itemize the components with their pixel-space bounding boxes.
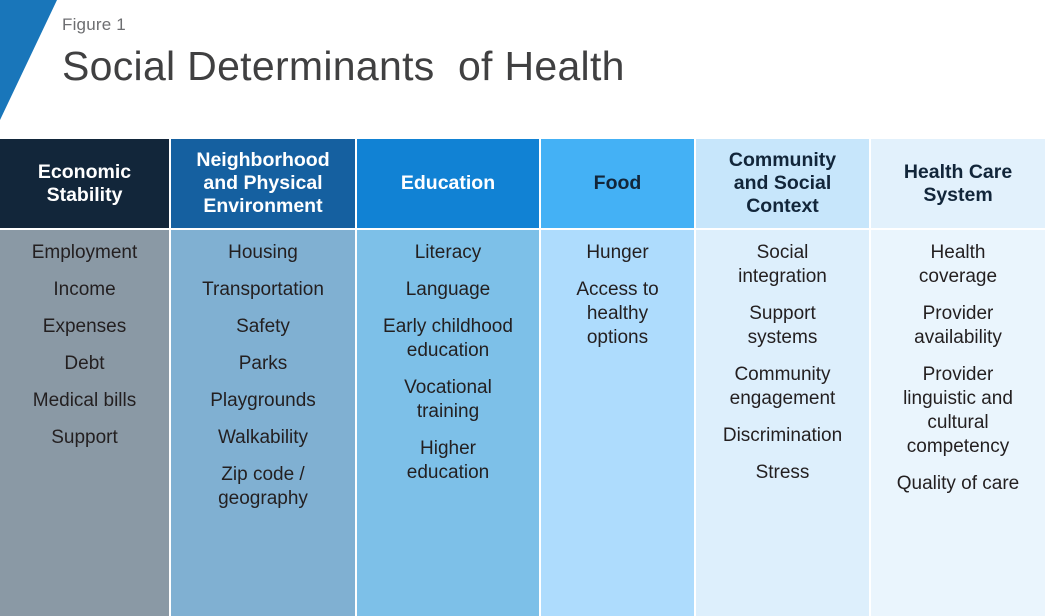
list-item: Parks	[178, 352, 348, 376]
list-item: Debt	[7, 352, 162, 376]
table-column-health-care-system: Health Care System Health coverage Provi…	[871, 139, 1045, 616]
list-item: Vocational training	[364, 376, 532, 424]
list-item: Housing	[178, 241, 348, 265]
column-header-neighborhood-physical-environment: Neighborhood and Physical Environment	[171, 139, 355, 230]
list-item: Stress	[703, 461, 862, 485]
list-item: Health coverage	[878, 241, 1038, 289]
table-column-education: Education Literacy Language Early childh…	[357, 139, 541, 616]
column-body-community-social-context: Social integration Support systems Commu…	[696, 230, 869, 616]
list-item: Literacy	[364, 241, 532, 265]
list-item: Expenses	[7, 315, 162, 339]
column-header-community-social-context: Community and Social Context	[696, 139, 869, 230]
table-column-community-social-context: Community and Social Context Social inte…	[696, 139, 871, 616]
list-item: Zip code / geography	[178, 463, 348, 511]
list-item: Higher education	[364, 437, 532, 485]
list-item: Playgrounds	[178, 389, 348, 413]
title-block: Figure 1 Social Determinants of Health	[62, 14, 962, 92]
list-item: Community engagement	[703, 363, 862, 411]
table-column-neighborhood-physical-environment: Neighborhood and Physical Environment Ho…	[171, 139, 357, 616]
column-header-economic-stability: Economic Stability	[0, 139, 169, 230]
figure-label: Figure 1	[62, 14, 962, 36]
page-title: Social Determinants of Health	[62, 40, 962, 92]
determinants-table: Economic Stability Employment Income Exp…	[0, 139, 1045, 616]
column-body-neighborhood-physical-environment: Housing Transportation Safety Parks Play…	[171, 230, 355, 616]
list-item: Social integration	[703, 241, 862, 289]
list-item: Safety	[178, 315, 348, 339]
table-column-economic-stability: Economic Stability Employment Income Exp…	[0, 139, 171, 616]
list-item: Early childhood education	[364, 315, 532, 363]
list-item: Quality of care	[878, 472, 1038, 496]
column-body-health-care-system: Health coverage Provider availability Pr…	[871, 230, 1045, 616]
list-item: Transportation	[178, 278, 348, 302]
column-header-education: Education	[357, 139, 539, 230]
column-header-food: Food	[541, 139, 694, 230]
list-item: Access to healthy options	[548, 278, 687, 350]
list-item: Support systems	[703, 302, 862, 350]
list-item: Language	[364, 278, 532, 302]
list-item: Walkability	[178, 426, 348, 450]
column-body-education: Literacy Language Early childhood educat…	[357, 230, 539, 616]
list-item: Hunger	[548, 241, 687, 265]
list-item: Provider availability	[878, 302, 1038, 350]
table-column-food: Food Hunger Access to healthy options	[541, 139, 696, 616]
figure-root: Figure 1 Social Determinants of Health E…	[0, 0, 1045, 616]
list-item: Medical bills	[7, 389, 162, 413]
corner-wedge-decoration	[0, 0, 60, 122]
list-item: Support	[7, 426, 162, 450]
list-item: Discrimination	[703, 424, 862, 448]
column-header-health-care-system: Health Care System	[871, 139, 1045, 230]
column-body-food: Hunger Access to healthy options	[541, 230, 694, 616]
column-body-economic-stability: Employment Income Expenses Debt Medical …	[0, 230, 169, 616]
list-item: Provider linguistic and cultural compete…	[878, 363, 1038, 459]
list-item: Income	[7, 278, 162, 302]
list-item: Employment	[7, 241, 162, 265]
